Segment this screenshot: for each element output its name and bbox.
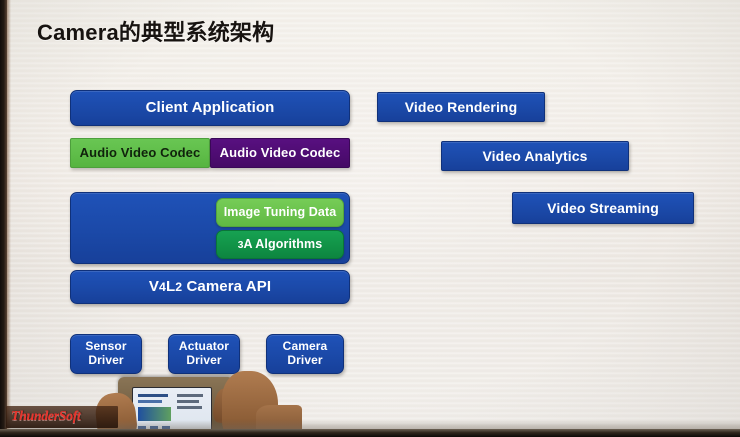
thundersoft-logo: ThunderSoft [6,406,118,428]
v4l2-4: 4 [159,280,166,294]
block-3a-algorithms[interactable]: 3A Algorithms [216,230,344,259]
block-video-analytics[interactable]: Video Analytics [441,141,629,171]
screen-left-bezel-glow [7,0,11,437]
page-title: Camera的典型系统架构 [37,15,274,47]
screen-bottom-bezel [0,429,740,437]
block-actuator-driver-line2: Driver [186,353,221,367]
block-camera-driver-line1: Camera [283,339,328,353]
block-camera-driver-line2: Driver [287,353,322,367]
block-3a-algorithms-label: 3A Algorithms [238,237,323,252]
block-sensor-driver-line1: Sensor [85,339,126,353]
block-audio-video-codec-purple-label: Audio Video Codec [220,146,341,161]
block-client-application[interactable]: Client Application [70,90,350,126]
slide-capture: Camera的典型系统架构 Client Application Audio V… [0,0,740,437]
block-actuator-driver[interactable]: Actuator Driver [168,334,240,374]
block-client-application-label: Client Application [146,99,275,116]
block-sensor-driver[interactable]: Sensor Driver [70,334,142,374]
block-audio-video-codec-green[interactable]: Audio Video Codec [70,138,210,168]
block-sensor-driver-label: Sensor Driver [85,340,126,368]
block-v4l2-camera-api[interactable]: V4L2 Camera API [70,270,350,304]
block-v4l2-camera-api-label: V4L2 Camera API [149,278,271,295]
block-audio-video-codec-purple[interactable]: Audio Video Codec [210,138,350,168]
block-video-rendering-label: Video Rendering [405,99,517,115]
block-video-streaming[interactable]: Video Streaming [512,192,694,224]
block-image-tuning-data[interactable]: Image Tuning Data [216,198,344,227]
thundersoft-logo-text: ThunderSoft [11,409,81,425]
v4l2-v: V [149,278,159,295]
block-3a-algorithms-text: A Algorithms [244,237,323,251]
block-video-streaming-label: Video Streaming [547,200,659,216]
block-video-rendering[interactable]: Video Rendering [377,92,545,122]
block-actuator-driver-label: Actuator Driver [179,340,229,368]
block-audio-video-codec-green-label: Audio Video Codec [80,146,201,161]
block-camera-driver[interactable]: Camera Driver [266,334,344,374]
v4l2-rest: Camera API [182,278,271,295]
block-video-analytics-label: Video Analytics [483,148,588,164]
block-sensor-driver-line2: Driver [88,353,123,367]
block-image-tuning-data-label: Image Tuning Data [224,205,337,219]
screen-left-bezel [0,0,7,437]
block-camera-driver-label: Camera Driver [283,340,328,368]
block-actuator-driver-line1: Actuator [179,339,229,353]
v4l2-l: L [166,278,175,295]
